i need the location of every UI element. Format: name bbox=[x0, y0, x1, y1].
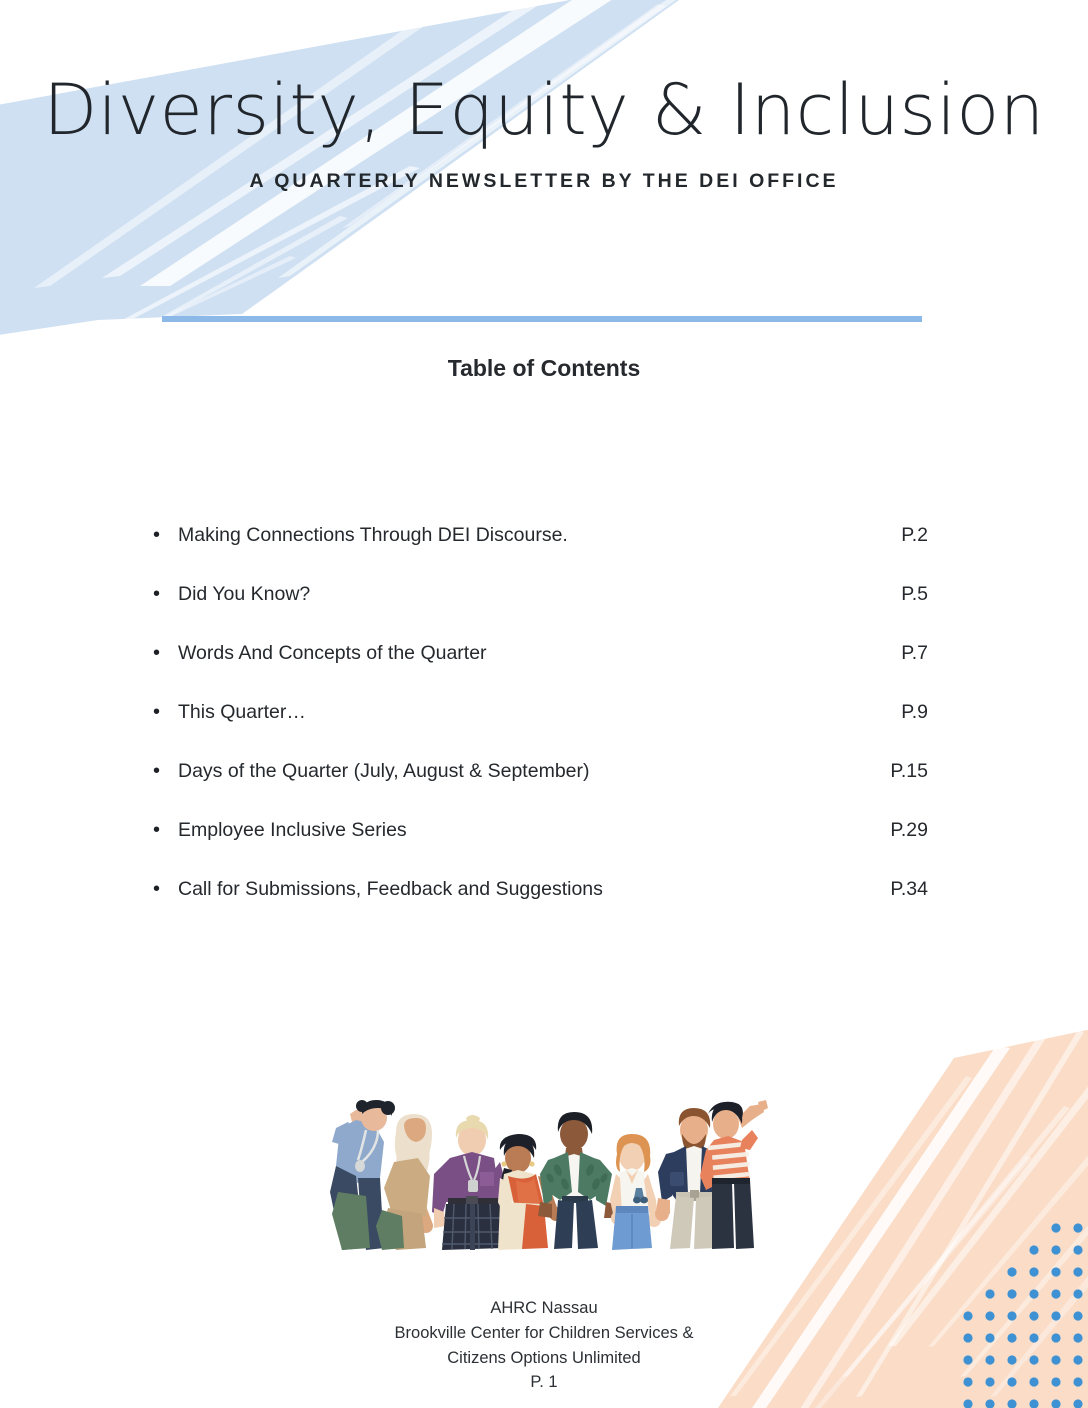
bullet-icon: • bbox=[148, 761, 178, 781]
toc-item-page: P.7 bbox=[844, 642, 928, 665]
footer-page-number: P. 1 bbox=[0, 1370, 1088, 1395]
toc-item-label: This Quarter… bbox=[178, 701, 844, 724]
person-6 bbox=[610, 1134, 661, 1250]
toc-item-making-connections[interactable]: • Making Connections Through DEI Discour… bbox=[148, 524, 928, 583]
bullet-icon: • bbox=[148, 584, 178, 604]
header-divider bbox=[162, 316, 922, 322]
bullet-icon: • bbox=[148, 879, 178, 899]
toc-item-days-of-the-quarter[interactable]: • Days of the Quarter (July, August & Se… bbox=[148, 760, 928, 819]
toc-item-page: P.2 bbox=[844, 524, 928, 547]
person-2 bbox=[376, 1114, 433, 1250]
person-3 bbox=[432, 1115, 510, 1250]
title-block: Diversity, Equity & Inclusion A QUARTERL… bbox=[0, 64, 1088, 193]
page-subtitle: A QUARTERLY NEWSLETTER BY THE DEI OFFICE bbox=[0, 170, 1088, 193]
toc-item-label: Call for Submissions, Feedback and Sugge… bbox=[178, 878, 844, 901]
toc-item-label: Employee Inclusive Series bbox=[178, 819, 844, 842]
toc-item-page: P.29 bbox=[844, 819, 928, 842]
toc-item-label: Words And Concepts of the Quarter bbox=[178, 642, 844, 665]
bullet-icon: • bbox=[148, 643, 178, 663]
toc-item-label: Did You Know? bbox=[178, 583, 844, 606]
toc-item-employee-inclusive-series[interactable]: • Employee Inclusive Series P.29 bbox=[148, 819, 928, 878]
toc-item-words-and-concepts[interactable]: • Words And Concepts of the Quarter P.7 bbox=[148, 642, 928, 701]
toc-item-label: Making Connections Through DEI Discourse… bbox=[178, 524, 844, 547]
diverse-people-illustration-icon bbox=[322, 1096, 768, 1252]
toc-item-label: Days of the Quarter (July, August & Sept… bbox=[178, 760, 844, 783]
toc-item-this-quarter[interactable]: • This Quarter… P.9 bbox=[148, 701, 928, 760]
newsletter-page: Diversity, Equity & Inclusion A QUARTERL… bbox=[0, 0, 1088, 1408]
toc-list: • Making Connections Through DEI Discour… bbox=[148, 524, 928, 937]
bullet-icon: • bbox=[148, 702, 178, 722]
footer-org-line-2: Brookville Center for Children Services … bbox=[0, 1321, 1088, 1346]
page-title: Diversity, Equity & Inclusion bbox=[0, 64, 1088, 156]
bullet-icon: • bbox=[148, 820, 178, 840]
toc-item-page: P.34 bbox=[844, 878, 928, 901]
bullet-icon: • bbox=[148, 525, 178, 545]
footer: AHRC Nassau Brookville Center for Childr… bbox=[0, 1296, 1088, 1395]
toc-item-call-for-submissions[interactable]: • Call for Submissions, Feedback and Sug… bbox=[148, 878, 928, 937]
person-5 bbox=[538, 1112, 618, 1249]
toc-item-page: P.9 bbox=[844, 701, 928, 724]
footer-org-name: AHRC Nassau bbox=[0, 1296, 1088, 1321]
toc-item-page: P.5 bbox=[844, 583, 928, 606]
toc-item-page: P.15 bbox=[844, 760, 928, 783]
toc-heading: Table of Contents bbox=[0, 355, 1088, 382]
footer-org-line-3: Citizens Options Unlimited bbox=[0, 1346, 1088, 1371]
toc-item-did-you-know[interactable]: • Did You Know? P.5 bbox=[148, 583, 928, 642]
